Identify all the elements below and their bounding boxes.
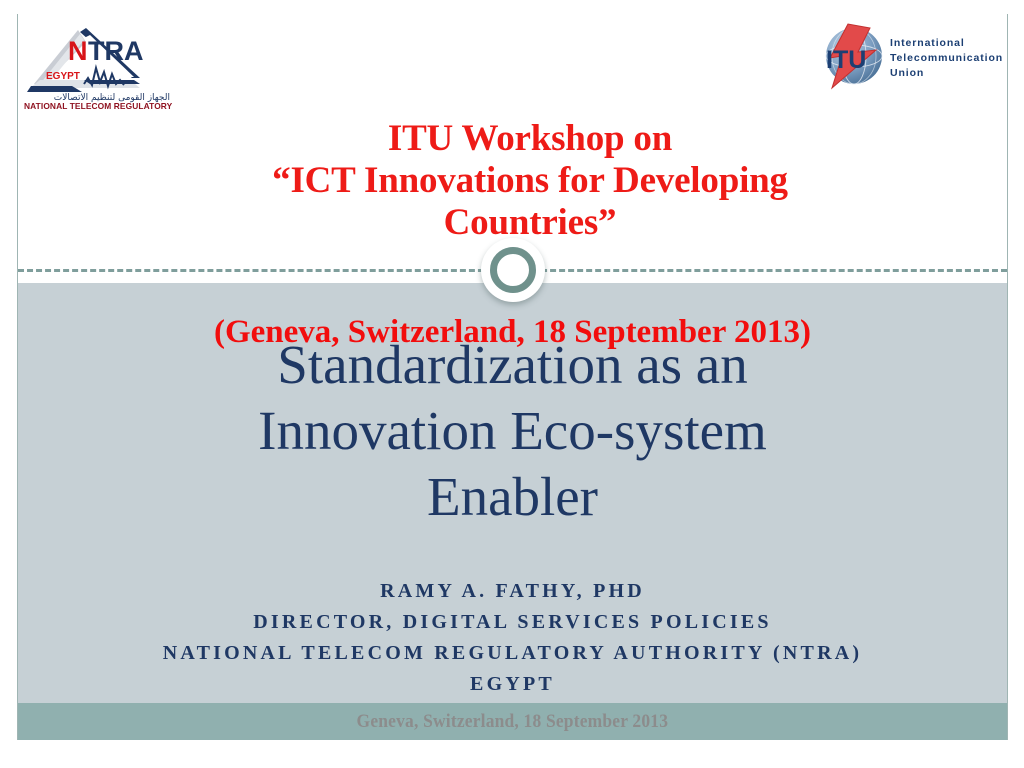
workshop-title-line-2: “ICT Innovations for Developing — [180, 160, 880, 202]
ntra-egypt-badge: EGYPT — [46, 71, 80, 82]
ntra-logo: N TRA EGYPT الجهاز القومى لتنظيم الاتصال… — [22, 22, 174, 110]
presenter-block: RAMY A. FATHY, PHD DIRECTOR, DIGITAL SER… — [40, 576, 985, 700]
frame-line-left — [17, 14, 18, 740]
workshop-title-line-3: Countries” — [180, 202, 880, 244]
ntra-letter-n: N — [68, 36, 88, 66]
ntra-letters-tra: TRA — [88, 36, 144, 66]
itu-word-line2: Telecommunication — [890, 52, 1003, 64]
slide-canvas: N TRA EGYPT الجهاز القومى لتنظيم الاتصال… — [0, 0, 1024, 768]
ntra-subtitle: NATIONAL TELECOM REGULATORY AUTHORITY — [24, 101, 174, 110]
presenter-role: DIRECTOR, DIGITAL SERVICES POLICIES — [40, 607, 985, 638]
workshop-title: ITU Workshop on “ICT Innovations for Dev… — [180, 118, 880, 244]
presenter-name: RAMY A. FATHY, PHD — [40, 576, 985, 607]
venue-date-line: (Geneva, Switzerland, 18 September 2013) — [18, 313, 1007, 351]
frame-line-right — [1007, 14, 1008, 740]
workshop-title-line-1: ITU Workshop on — [180, 118, 880, 160]
page-title-line-2: Innovation Eco-system — [60, 398, 965, 464]
decorative-circle-ring-icon — [490, 247, 536, 293]
page-title: Standardization as an Innovation Eco-sys… — [60, 332, 965, 530]
footer-text: Geneva, Switzerland, 18 September 2013 — [357, 711, 669, 733]
itu-word-line3: Union — [890, 67, 924, 79]
itu-logo: ITU International Telecommunication Unio… — [818, 22, 1004, 94]
presenter-organization: NATIONAL TELECOM REGULATORY AUTHORITY (N… — [40, 638, 985, 669]
page-title-line-3: Enabler — [60, 464, 965, 530]
footer-bar: Geneva, Switzerland, 18 September 2013 — [18, 703, 1007, 740]
itu-mark-text: ITU — [826, 46, 866, 74]
itu-word-line1: International — [890, 37, 965, 49]
presenter-country: EGYPT — [40, 669, 985, 700]
